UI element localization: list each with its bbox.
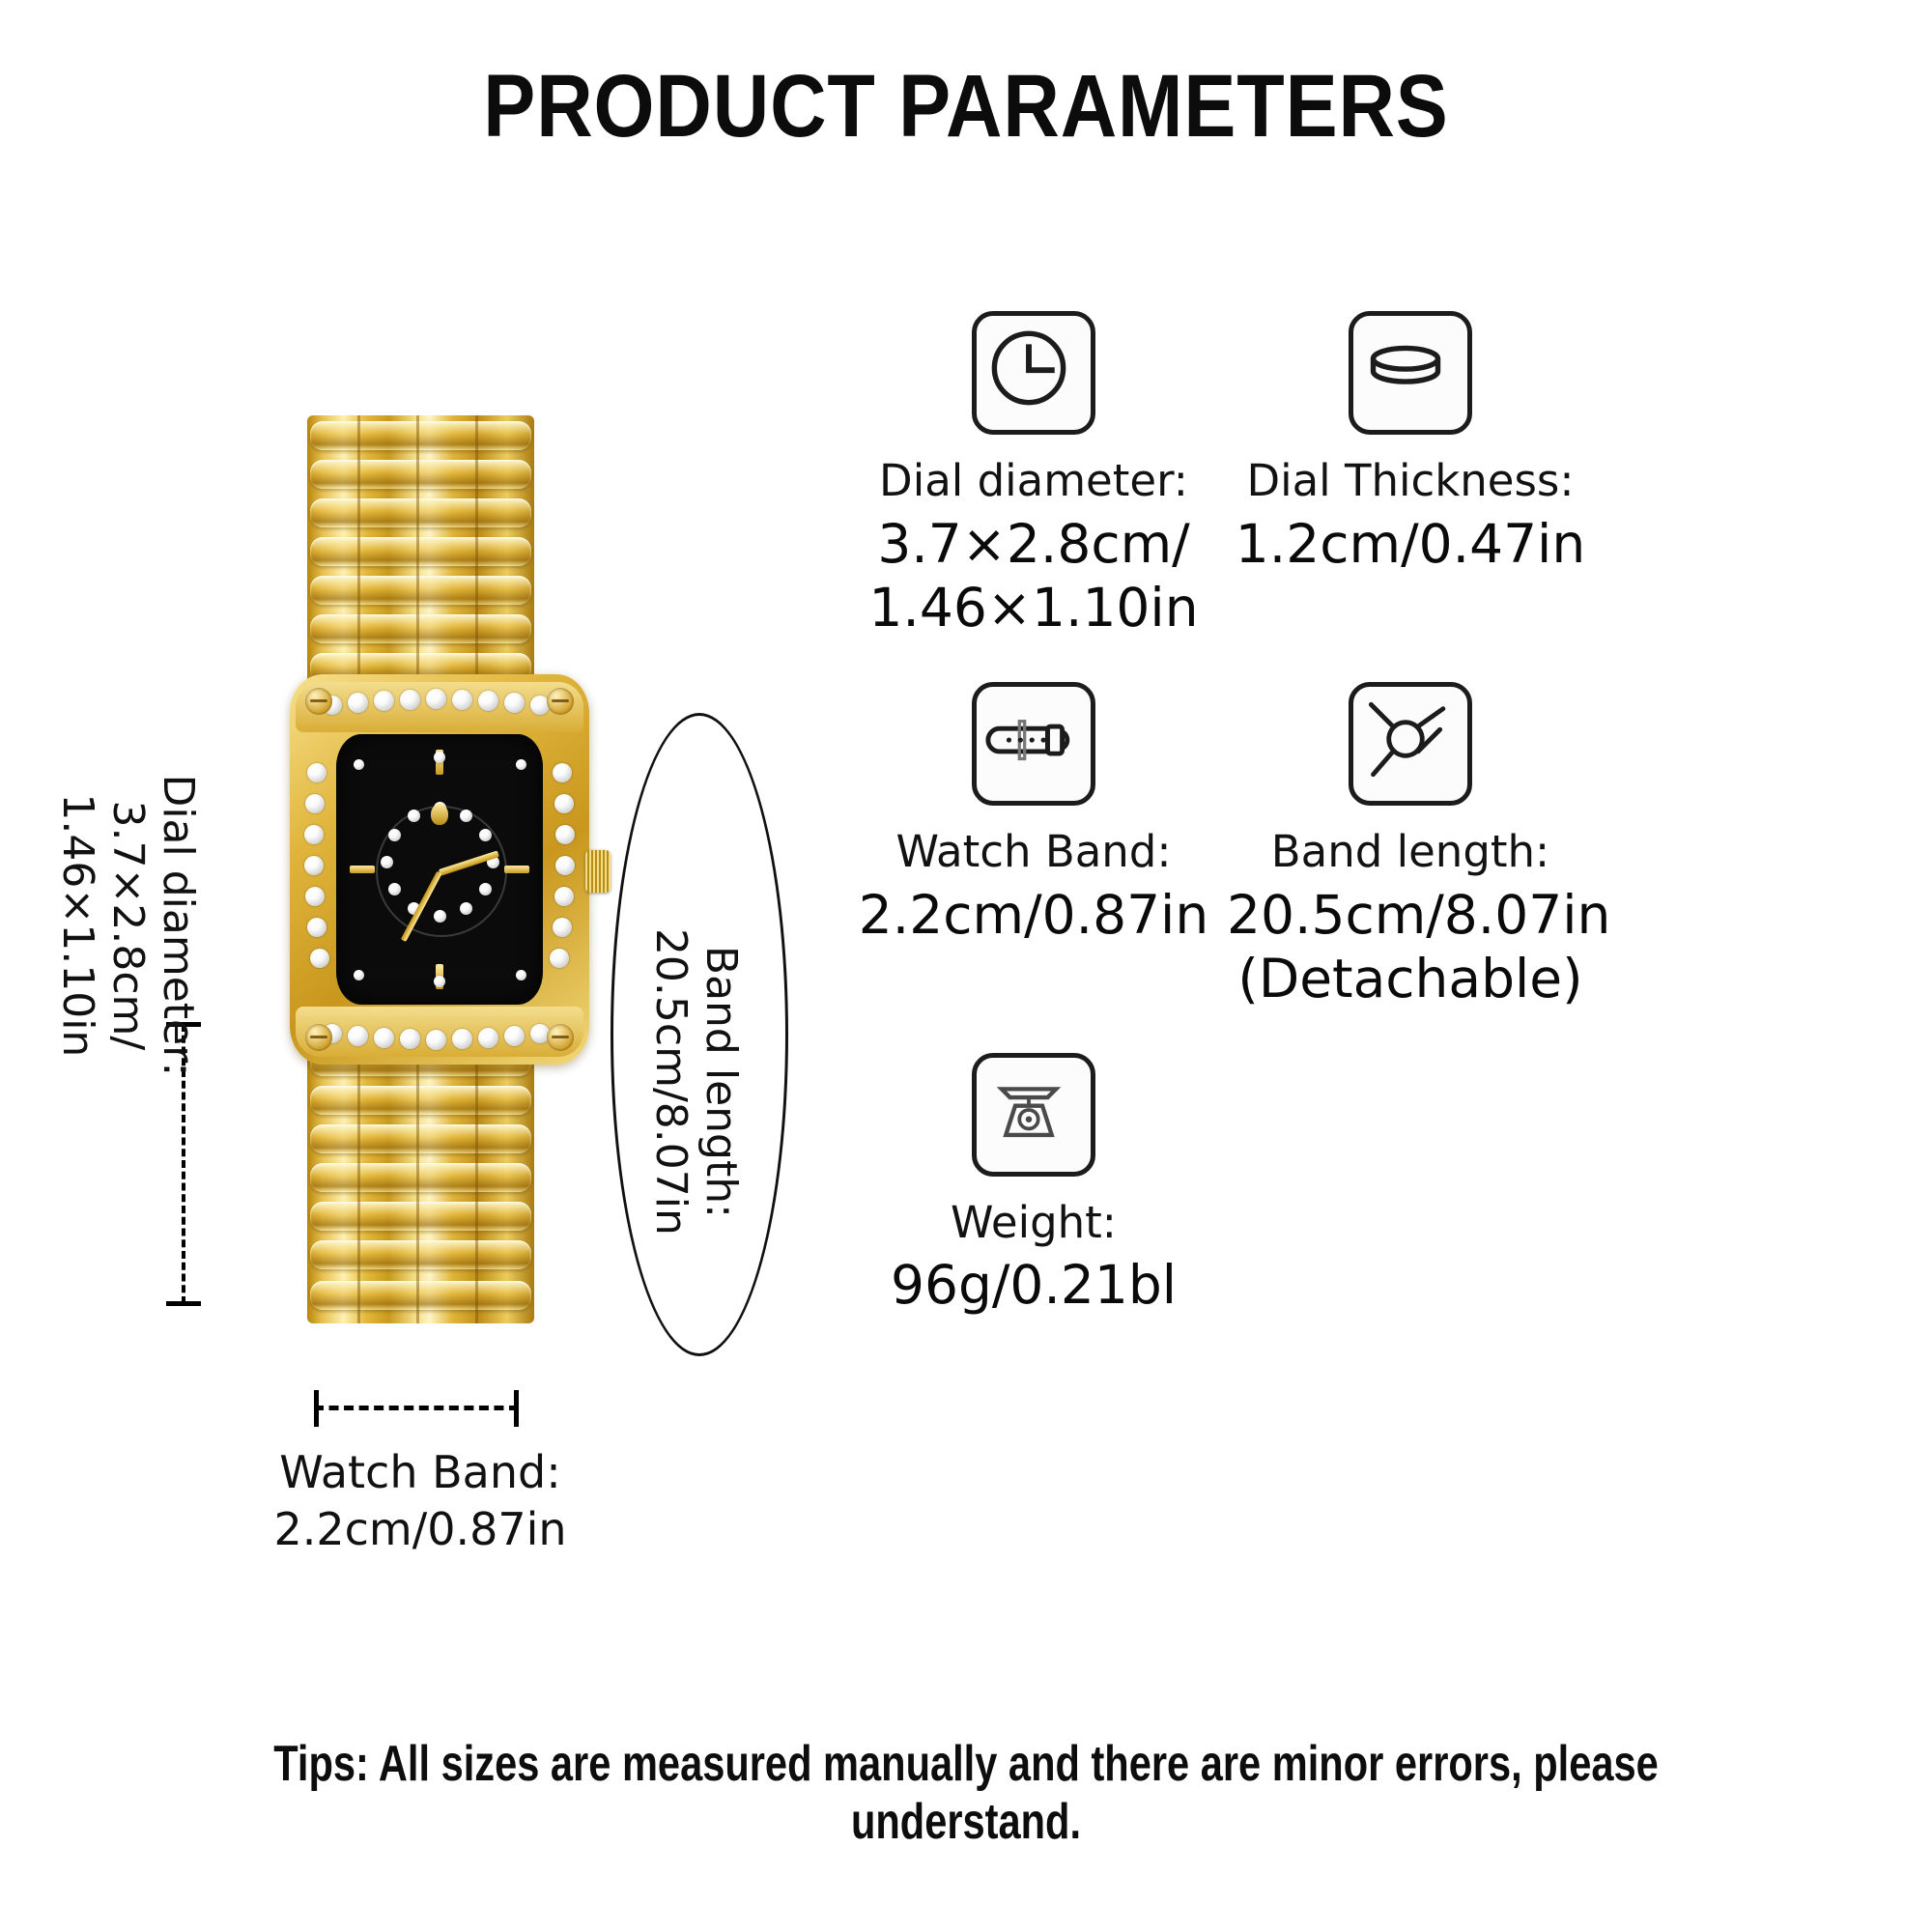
crystal-row-bottom [296,1007,583,1057]
spec-row-2: Watch Band: 2.2cm/0.87in Band length: 20… [850,682,1913,1053]
spec-label: Band length: [1227,827,1594,877]
watch-band-buckle-icon [972,682,1095,806]
caliper-cap-bottom [166,1301,201,1306]
clock-icon [972,311,1095,435]
spec-value: 20.5cm/8.07in (Detachable) [1227,883,1594,1010]
crystal-row-top [296,682,583,732]
spec-row-1: Dial diameter: 3.7×2.8cm/ 1.46×1.10in Di… [850,311,1913,682]
product-illustration-area: Dial diameter: 3.7×2.8cm/ 1.46×1.10in [0,290,869,1352]
lug-screw-bottom-right [547,1024,574,1051]
hour-marker-9 [350,866,375,873]
watch-band-bottom-label: Watch Band: 2.2cm/0.87in [203,1444,638,1558]
dial-diameter-vertical-label: Dial diameter: 3.7×2.8cm/ 1.46×1.10in [52,723,203,1128]
spec-value: 96g/0.21bl [850,1253,1217,1317]
lug-screw-top-left [305,688,332,715]
dial-logo [431,804,448,825]
spec-dial-thickness: Dial Thickness: 1.2cm/0.47in [1227,311,1594,682]
spec-label: Dial Thickness: [1227,456,1594,506]
spec-label: Watch Band: [850,827,1217,877]
watch-band-caliper [314,1406,519,1411]
caliper-dashed-line-horizontal [314,1406,519,1410]
spec-watch-band: Watch Band: 2.2cm/0.87in [850,682,1217,1053]
scale-icon [972,1053,1095,1177]
watch-crown [585,850,611,893]
watch-dial [336,734,543,1005]
spec-weight: Weight: 96g/0.21bl [850,1053,1217,1360]
caliper-cap-left [314,1390,319,1427]
spec-value: 2.2cm/0.87in [850,883,1217,947]
spec-value: 1.2cm/0.47in [1227,512,1594,576]
spec-label: Weight: [850,1198,1217,1248]
hour-marker-3 [504,866,529,873]
dial-thickness-icon [1349,311,1472,435]
band-length-icon [1349,682,1472,806]
spec-row-3: Weight: 96g/0.21bl [850,1053,1913,1360]
watch-illustration [290,415,589,1227]
spec-grid: Dial diameter: 3.7×2.8cm/ 1.46×1.10in Di… [850,311,1913,1359]
tips-note: Tips: All sizes are measured manually an… [193,1735,1739,1851]
lug-screw-bottom-left [305,1024,332,1051]
spec-band-length: Band length: 20.5cm/8.07in (Detachable) [1227,682,1594,1053]
lug-screw-top-right [547,688,574,715]
spec-value: 3.7×2.8cm/ 1.46×1.10in [850,512,1217,639]
page-title: PRODUCT PARAMETERS [116,56,1816,157]
watch-case [290,674,589,1065]
band-length-vertical-label: Band length: 20.5cm/8.07in [645,840,746,1323]
caliper-cap-right [514,1390,519,1427]
watch-band-bottom-title: Watch Band: [203,1444,638,1501]
spec-label: Dial diameter: [850,456,1217,506]
watch-band-bottom-value: 2.2cm/0.87in [203,1501,638,1558]
spec-dial-diameter: Dial diameter: 3.7×2.8cm/ 1.46×1.10in [850,311,1217,682]
